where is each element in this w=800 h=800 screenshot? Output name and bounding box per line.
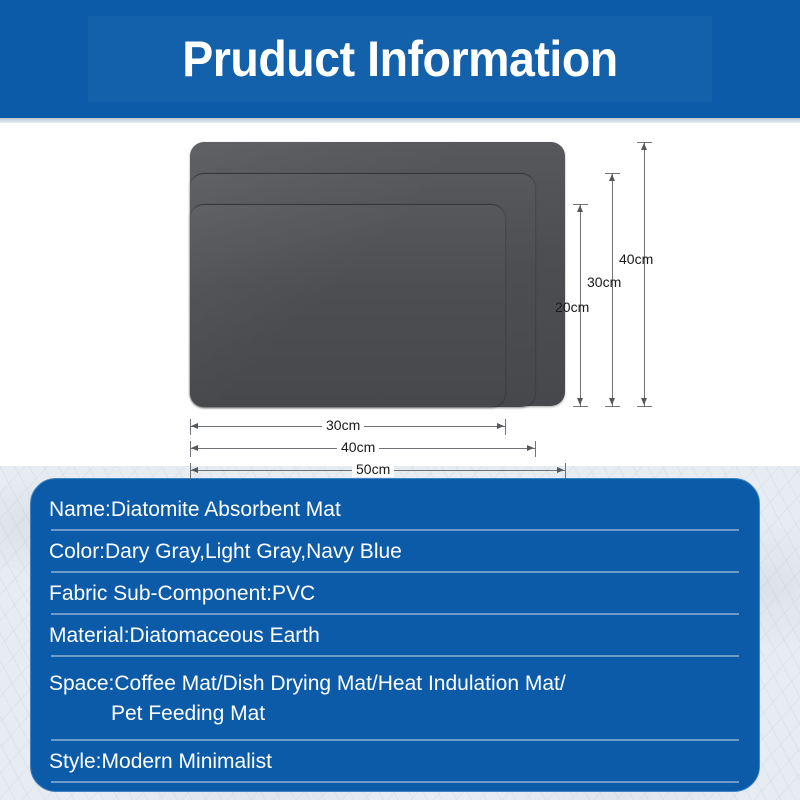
spec-material-text: Material:Diatomaceous Earth	[49, 621, 320, 651]
spec-row-style: Style:Modern Minimalist	[49, 741, 741, 783]
spec-fabric-text: Fabric Sub-Component:PVC	[49, 579, 315, 609]
spec-row-name: Name:Diatomite Absorbent Mat	[49, 489, 741, 531]
spec-separator	[51, 781, 739, 783]
spec-row-space: Space:Coffee Mat/Dish Drying Mat/Heat In…	[49, 657, 741, 741]
product-image-area: 20cm 30cm 40cm	[0, 123, 800, 478]
header-banner: Pruduct Information	[0, 0, 800, 118]
dimension-width-50cm-label: 50cm	[352, 461, 394, 477]
vertical-dimension-group: 20cm 30cm 40cm	[565, 123, 685, 423]
spec-color-text: Color:Dary Gray,Light Gray,Navy Blue	[49, 537, 402, 567]
spec-row-material: Material:Diatomaceous Earth	[49, 615, 741, 657]
spec-row-color: Color:Dary Gray,Light Gray,Navy Blue	[49, 531, 741, 573]
dimension-20cm-label: 20cm	[555, 299, 589, 315]
product-information-page: Pruduct Information 20cm	[0, 0, 800, 800]
spec-space-text: Space:Coffee Mat/Dish Drying Mat/Heat In…	[49, 669, 566, 699]
horizontal-dimension-group: 30cm 40cm 50cm	[0, 406, 800, 478]
dimension-width-40cm-label: 40cm	[337, 439, 379, 455]
spec-style-text: Style:Modern Minimalist	[49, 747, 272, 777]
page-title: Pruduct Information	[28, 0, 772, 118]
dimension-30cm-label: 30cm	[587, 274, 621, 290]
dimension-width-30cm-label: 30cm	[322, 417, 364, 433]
specifications-panel: Name:Diatomite Absorbent Mat Color:Dary …	[30, 478, 760, 792]
spec-space-text-continuation: Pet Feeding Mat	[49, 699, 265, 729]
dimension-40cm-label: 40cm	[619, 251, 653, 267]
spec-row-fabric: Fabric Sub-Component:PVC	[49, 573, 741, 615]
spec-name-text: Name:Diatomite Absorbent Mat	[49, 495, 341, 525]
small-mat-graphic	[190, 204, 505, 407]
